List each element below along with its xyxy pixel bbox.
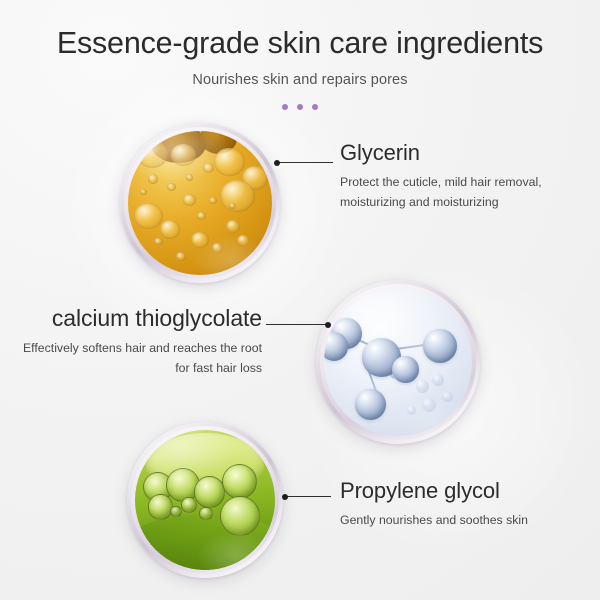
ingredient-swatch-propylene-glycol: [127, 422, 283, 578]
ingredient-description: Effectively softens hair and reaches the…: [10, 339, 262, 378]
connector-line-propylene-glycol: [285, 496, 331, 497]
connector-node-icon: [325, 322, 331, 328]
connector-line-glycerin: [277, 162, 333, 163]
ingredient-label-calcium-thioglycolate: calcium thioglycolate Effectively soften…: [10, 305, 262, 378]
green-liquid-texture: [135, 430, 275, 570]
golden-oil-texture: [128, 131, 272, 275]
page-title: Essence-grade skin care ingredients: [0, 26, 600, 61]
molecule-model-texture: [324, 288, 472, 436]
ingredient-name: calcium thioglycolate: [10, 305, 262, 331]
ingredient-label-glycerin: Glycerin Protect the cuticle, mild hair …: [340, 140, 555, 212]
ingredient-description: Protect the cuticle, mild hair removal, …: [340, 173, 555, 212]
ingredient-description: Gently nourishes and soothes skin: [340, 511, 560, 531]
ingredient-name: Propylene glycol: [340, 478, 560, 503]
ingredient-label-propylene-glycol: Propylene glycol Gently nourishes and so…: [340, 478, 560, 531]
connector-node-icon: [274, 160, 280, 166]
ingredient-swatch-calcium-thioglycolate: [316, 280, 480, 444]
divider-dot: [282, 104, 288, 110]
connector-node-icon: [282, 494, 288, 500]
ingredient-swatch-glycerin: [120, 123, 280, 283]
connector-line-calcium-thioglycolate: [266, 324, 328, 325]
page-subtitle: Nourishes skin and repairs pores: [0, 72, 600, 88]
divider-dot: [312, 104, 318, 110]
divider-dot: [297, 104, 303, 110]
ingredient-name: Glycerin: [340, 140, 555, 165]
ingredient-infographic: Essence-grade skin care ingredients Nour…: [0, 0, 600, 600]
divider-dots: [0, 104, 600, 110]
